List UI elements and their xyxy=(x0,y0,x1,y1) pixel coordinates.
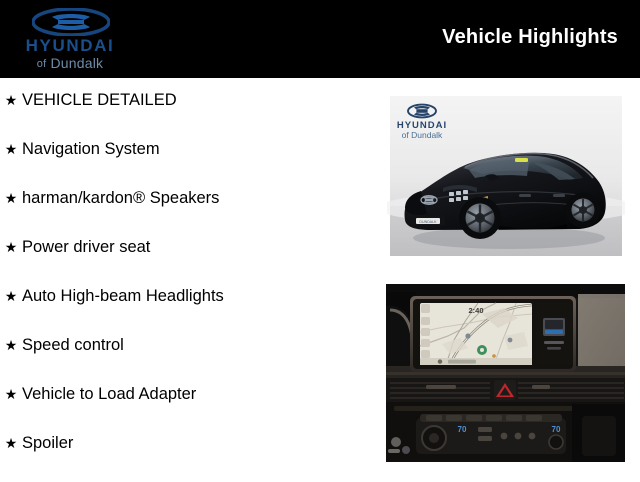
dealer-logo[interactable]: HYUNDAI of Dundalk xyxy=(10,6,130,74)
vehicle-exterior-photo[interactable]: HYUNDAI of Dundalk DUNDALK xyxy=(387,88,625,266)
list-item: ★ VEHICLE DETAILED xyxy=(0,90,370,139)
hyundai-ellipse-h-logo xyxy=(32,8,110,36)
star-icon: ★ xyxy=(0,335,22,355)
dealer-location-text: of Dundalk xyxy=(10,55,130,72)
list-item-label: Navigation System xyxy=(22,139,160,159)
vehicle-highlights-list: ★ VEHICLE DETAILED ★ Navigation System ★… xyxy=(0,90,370,482)
list-item: ★ Vehicle to Load Adapter xyxy=(0,384,370,433)
dealer-brand-text: HYUNDAI xyxy=(10,36,130,55)
list-item-label: Speed control xyxy=(22,335,124,355)
list-item-label: VEHICLE DETAILED xyxy=(22,90,177,110)
list-item-label: Power driver seat xyxy=(22,237,150,257)
svg-text:70: 70 xyxy=(458,425,467,434)
list-item-label: Vehicle to Load Adapter xyxy=(22,384,196,404)
svg-text:70: 70 xyxy=(552,425,561,434)
svg-text:of Dundalk: of Dundalk xyxy=(402,130,443,140)
star-icon: ★ xyxy=(0,188,22,208)
list-item-label: Spoiler xyxy=(22,433,73,453)
list-item: ★ Spoiler xyxy=(0,433,370,482)
vehicle-interior-photo[interactable]: 2:40 xyxy=(386,284,625,462)
star-icon: ★ xyxy=(0,237,22,257)
star-icon: ★ xyxy=(0,90,22,110)
star-icon: ★ xyxy=(0,433,22,453)
nav-eta-time: 2:40 xyxy=(468,306,483,315)
star-icon: ★ xyxy=(0,384,22,404)
page-header: HYUNDAI of Dundalk Vehicle Highlights xyxy=(0,0,640,78)
list-item: ★ Auto High-beam Headlights xyxy=(0,286,370,335)
hazard-button xyxy=(494,380,516,400)
star-icon: ★ xyxy=(0,139,22,159)
svg-text:DUNDALK: DUNDALK xyxy=(419,220,437,224)
list-item: ★ Power driver seat xyxy=(0,237,370,286)
list-item-label: harman/kardon® Speakers xyxy=(22,188,219,208)
dealer-of-word: of xyxy=(37,58,47,70)
list-item: ★ harman/kardon® Speakers xyxy=(0,188,370,237)
dealer-city: Dundalk xyxy=(50,55,103,71)
list-item: ★ Speed control xyxy=(0,335,370,384)
star-icon: ★ xyxy=(0,286,22,306)
list-item: ★ Navigation System xyxy=(0,139,370,188)
list-item-label: Auto High-beam Headlights xyxy=(22,286,224,306)
page-title: Vehicle Highlights xyxy=(442,26,618,49)
